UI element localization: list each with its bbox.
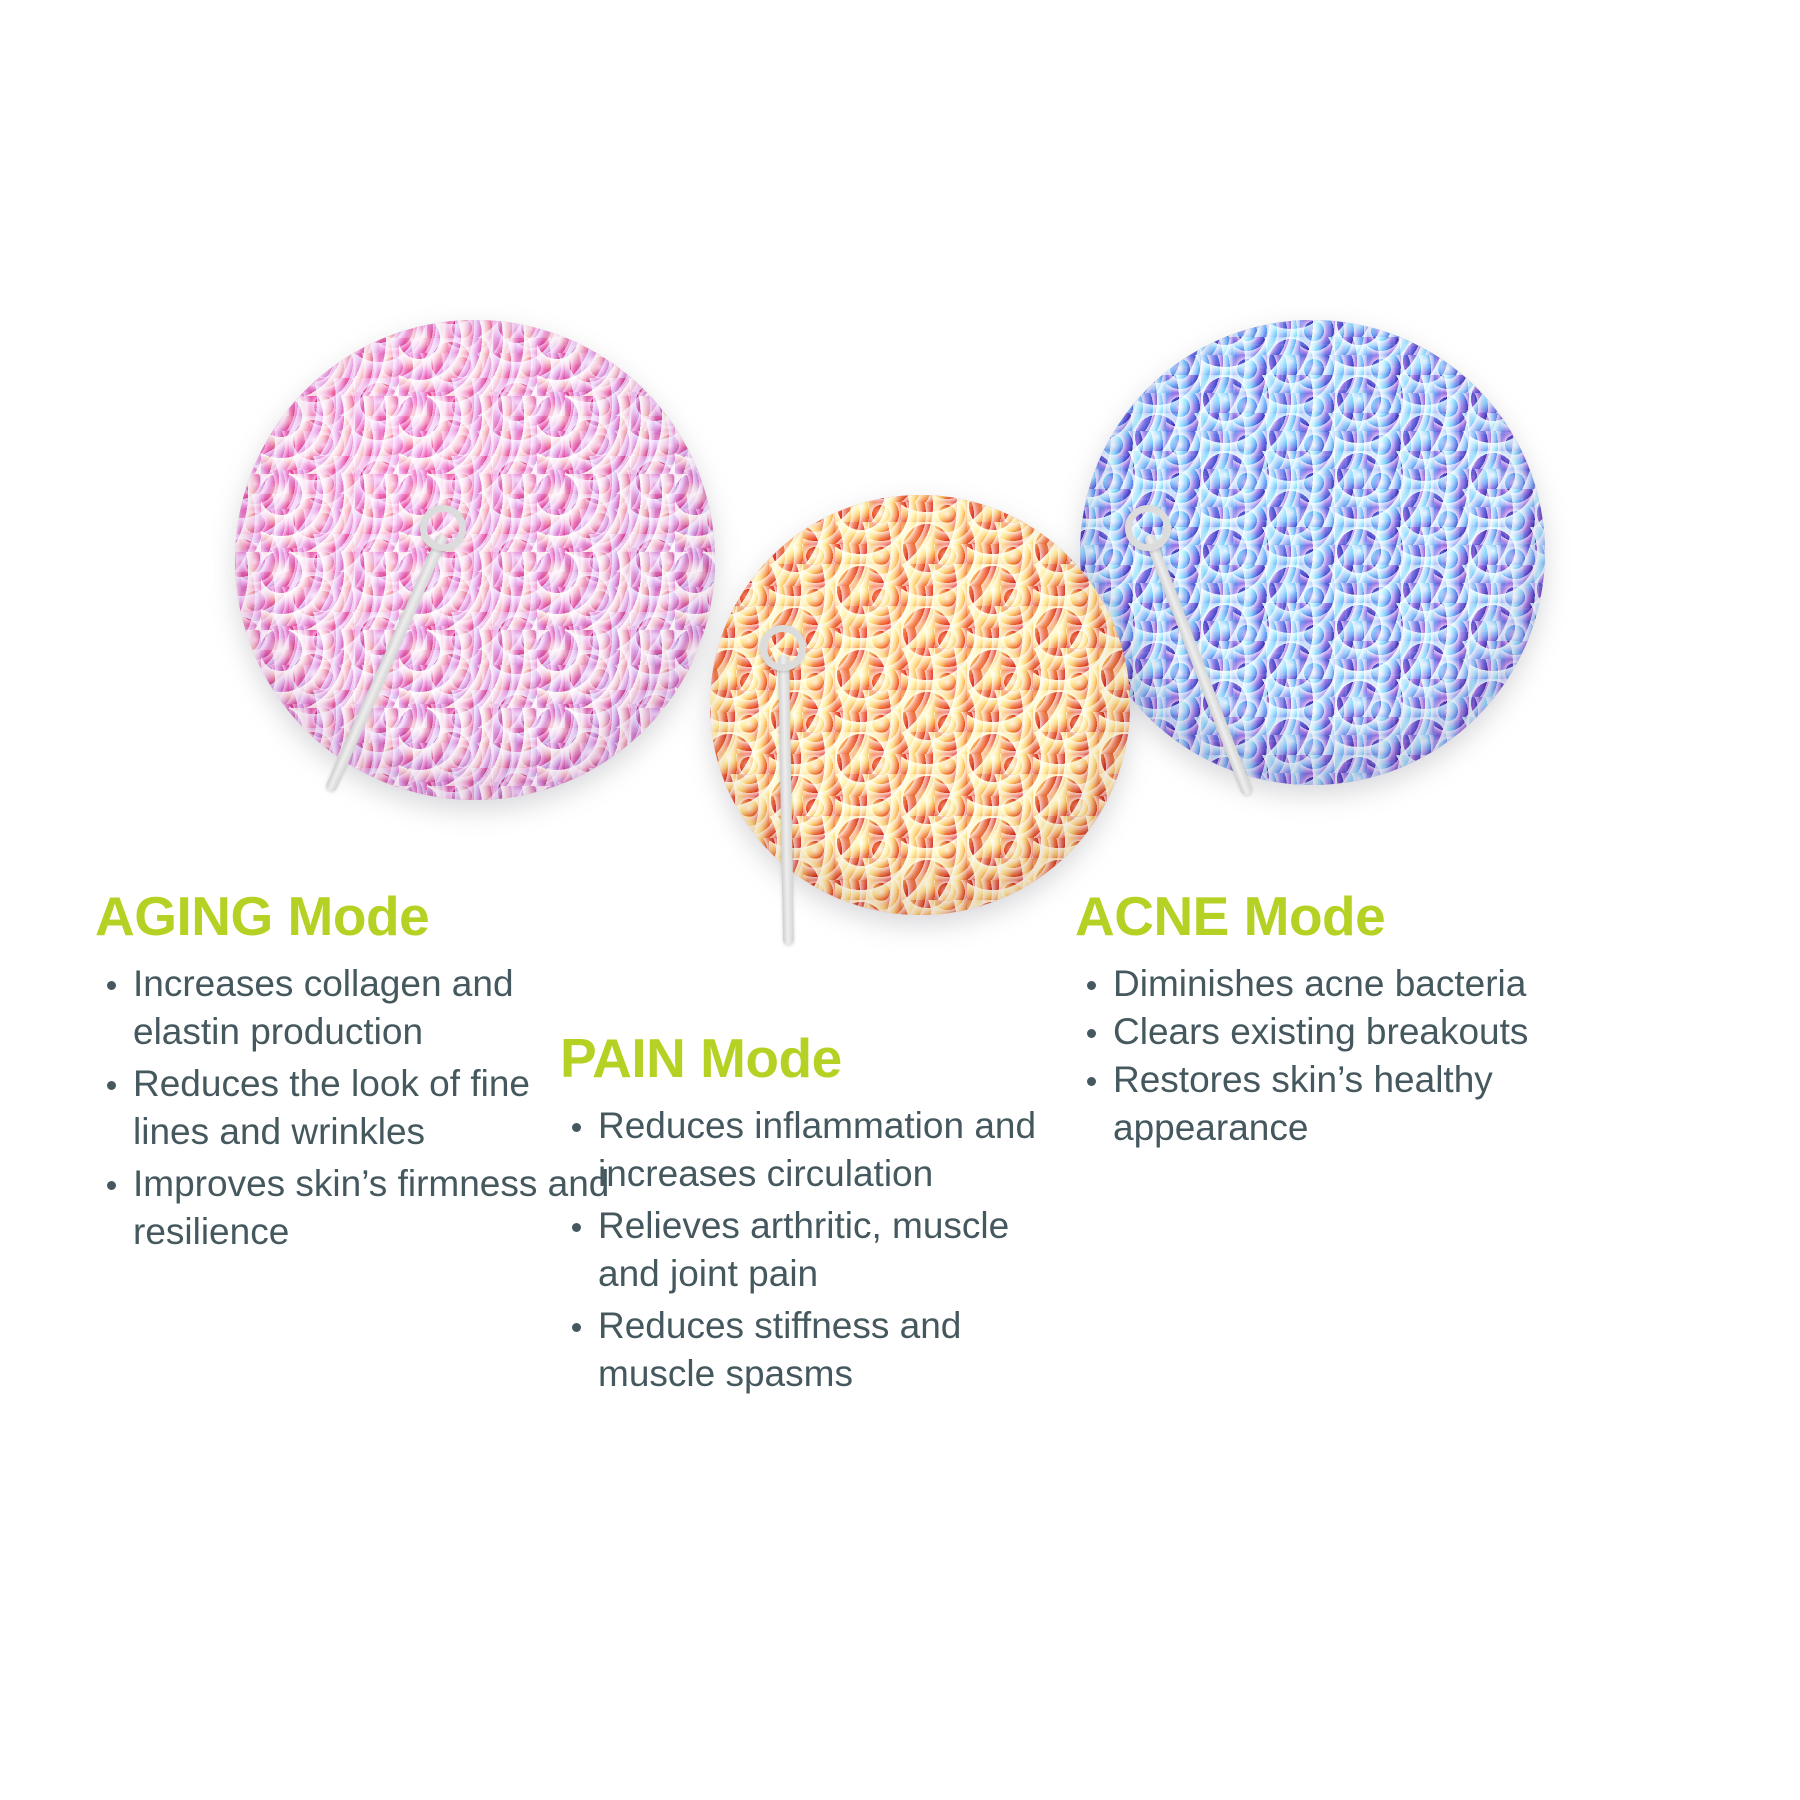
pain-mode-text-block: PAIN Mode Reduces inflammation and incre… xyxy=(560,1030,1080,1402)
list-item: Reduces stiffness and muscle spasms xyxy=(560,1302,1080,1398)
aging-panel-vignette xyxy=(235,320,715,800)
aging-mode-text-block: AGING Mode Increases collagen and elasti… xyxy=(95,888,615,1260)
aging-led-panel-image xyxy=(235,320,715,800)
pain-mode-heading-strong: PAIN xyxy=(560,1027,685,1089)
aging-mode-benefit-list: Increases collagen and elastin productio… xyxy=(95,960,615,1257)
list-item: Relieves arthritic, muscle and joint pai… xyxy=(560,1202,1080,1298)
acne-mode-benefit-list: Diminishes acne bacteria Clears existing… xyxy=(1075,960,1605,1152)
pain-led-panel-image xyxy=(710,495,1130,915)
pain-mode-heading-rest: Mode xyxy=(685,1027,841,1089)
pain-mode-benefit-list: Reduces inflammation and increases circu… xyxy=(560,1102,1080,1399)
pain-mode-heading: PAIN Mode xyxy=(560,1030,1080,1088)
list-item: Reduces the look of fine lines and wrink… xyxy=(95,1060,615,1156)
acne-pointer-ring xyxy=(1125,505,1171,551)
pain-panel-vignette xyxy=(710,495,1130,915)
aging-mode-heading-rest: Mode xyxy=(273,885,429,947)
aging-mode-heading: AGING Mode xyxy=(95,888,615,946)
acne-mode-heading: ACNE Mode xyxy=(1075,888,1605,946)
acne-mode-text-block: ACNE Mode Diminishes acne bacteria Clear… xyxy=(1075,888,1605,1152)
list-item: Restores skin’s healthy appearance xyxy=(1075,1056,1605,1152)
list-item: Clears existing breakouts xyxy=(1075,1008,1605,1056)
pain-pointer-ring xyxy=(760,625,806,671)
aging-mode-heading-strong: AGING xyxy=(95,885,273,947)
infographic-canvas: AGING Mode Increases collagen and elasti… xyxy=(0,0,1800,1800)
list-item: Diminishes acne bacteria xyxy=(1075,960,1605,1008)
list-item: Increases collagen and elastin productio… xyxy=(95,960,615,1056)
list-item: Reduces inflammation and increases circu… xyxy=(560,1102,1080,1198)
acne-mode-heading-strong: ACNE xyxy=(1075,885,1229,947)
list-item: Improves skin’s firmness and resilience xyxy=(95,1160,615,1256)
acne-mode-heading-rest: Mode xyxy=(1229,885,1385,947)
aging-pointer-ring xyxy=(420,505,466,551)
